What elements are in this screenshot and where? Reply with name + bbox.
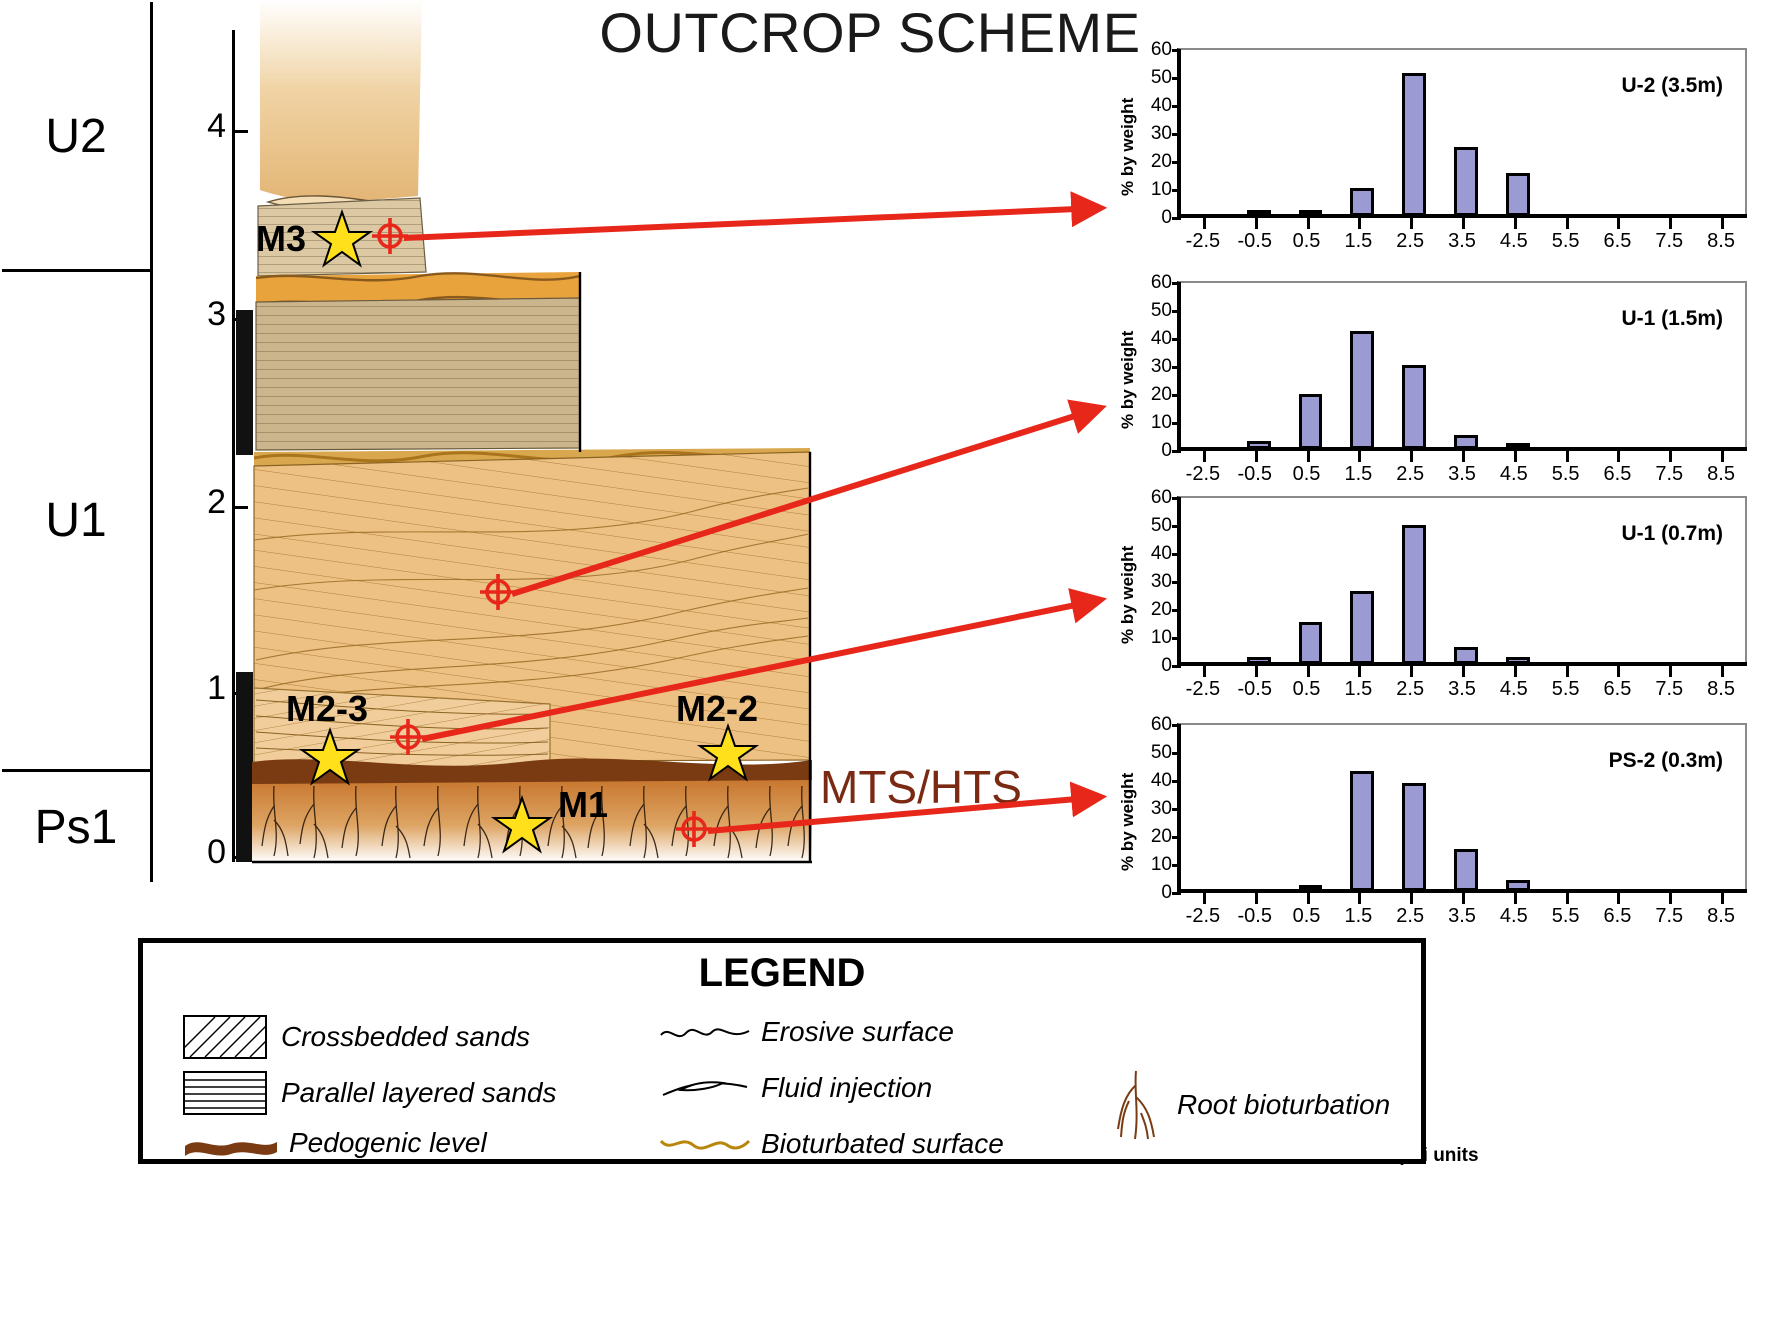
x-tick-mark xyxy=(1721,666,1724,677)
legend-title: LEGEND xyxy=(143,951,1421,996)
y-tick-mark xyxy=(1172,49,1181,52)
x-tick-label: -0.5 xyxy=(1237,678,1271,701)
x-tick-label: 8.5 xyxy=(1707,905,1735,928)
plot-area: 0102030405060PS-2 (0.3m) xyxy=(1177,723,1747,891)
histogram-panel-1: % by weight0102030405060U-2 (3.5m)-2.5-0… xyxy=(1115,40,1763,255)
x-tick-mark xyxy=(1255,451,1258,462)
x-tick-label: 3.5 xyxy=(1448,905,1476,928)
legend-item-crossbedded-sands: Crossbedded sands xyxy=(183,1015,530,1059)
x-tick-mark xyxy=(1669,666,1672,677)
x-tick-label: 4.5 xyxy=(1500,463,1528,486)
x-tick-mark xyxy=(1358,893,1361,904)
x-tick-mark xyxy=(1307,666,1310,677)
wavy-line-icon xyxy=(659,1015,751,1049)
hatched-box-icon xyxy=(183,1015,267,1059)
root-icon xyxy=(1103,1067,1169,1143)
x-tick-mark xyxy=(1255,218,1258,229)
x-tick-mark xyxy=(1566,451,1569,462)
x-tick-mark xyxy=(1462,451,1465,462)
sample-label-m2-3: M2-3 xyxy=(286,688,368,730)
histogram-bar xyxy=(1350,591,1374,664)
x-tick-label: -2.5 xyxy=(1186,678,1220,701)
y-tick-mark xyxy=(1172,282,1181,285)
y-tick-mark xyxy=(1172,752,1181,755)
x-tick-label: 8.5 xyxy=(1707,230,1735,253)
y-tick-mark xyxy=(1172,105,1181,108)
x-tick-label: 8.5 xyxy=(1707,678,1735,701)
x-tick-mark xyxy=(1358,451,1361,462)
x-tick-mark xyxy=(1669,893,1672,904)
y-tick-mark xyxy=(1172,724,1181,727)
histogram-bar xyxy=(1350,188,1374,216)
x-tick-label: 6.5 xyxy=(1604,905,1632,928)
depth-scale-axis xyxy=(232,30,235,862)
x-tick-label: -0.5 xyxy=(1237,905,1271,928)
scale-tick-label: 0 xyxy=(186,833,226,872)
x-tick-mark xyxy=(1410,666,1413,677)
scale-tick-label: 2 xyxy=(186,483,226,522)
x-tick-label: 5.5 xyxy=(1552,463,1580,486)
x-tick-label: -2.5 xyxy=(1186,230,1220,253)
scale-tick-label: 1 xyxy=(186,669,226,708)
x-tick-mark xyxy=(1203,666,1206,677)
x-tick-mark xyxy=(1307,893,1310,904)
x-tick-mark xyxy=(1255,893,1258,904)
chart-title: U-1 (0.7m) xyxy=(1621,522,1723,546)
x-tick-label: 1.5 xyxy=(1344,463,1372,486)
x-tick-label: 0.5 xyxy=(1293,230,1321,253)
sample-label-m1: M1 xyxy=(558,784,608,826)
histogram-bar xyxy=(1350,771,1374,891)
legend-label: Bioturbated surface xyxy=(761,1128,1004,1160)
x-tick-label: 2.5 xyxy=(1396,905,1424,928)
legend-label: Parallel layered sands xyxy=(281,1077,557,1109)
histogram-bar xyxy=(1454,147,1478,216)
x-tick-label: 3.5 xyxy=(1448,463,1476,486)
x-tick-mark xyxy=(1514,666,1517,677)
x-tick-label: 2.5 xyxy=(1396,678,1424,701)
lined-box-icon xyxy=(183,1071,267,1115)
chart-title: U-1 (1.5m) xyxy=(1621,307,1723,331)
x-tick-mark xyxy=(1255,666,1258,677)
unit-cell-u2: U2 xyxy=(2,4,150,272)
x-tick-mark xyxy=(1617,893,1620,904)
x-tick-mark xyxy=(1617,451,1620,462)
y-tick-mark xyxy=(1172,133,1181,136)
x-tick-mark xyxy=(1514,893,1517,904)
x-tick-mark xyxy=(1514,451,1517,462)
histogram-bar xyxy=(1350,331,1374,449)
x-tick-mark xyxy=(1307,451,1310,462)
x-tick-mark xyxy=(1566,218,1569,229)
y-tick-mark xyxy=(1172,189,1181,192)
x-tick-label: 8.5 xyxy=(1707,463,1735,486)
x-tick-label: 2.5 xyxy=(1396,230,1424,253)
plot-area: 0102030405060U-1 (1.5m) xyxy=(1177,281,1747,449)
y-tick-mark xyxy=(1172,836,1181,839)
legend-label: Fluid injection xyxy=(761,1072,932,1104)
histogram-bar xyxy=(1402,525,1426,664)
x-tick-label: 5.5 xyxy=(1552,230,1580,253)
sample-label-m3: M3 xyxy=(256,218,306,260)
y-tick-mark xyxy=(1172,864,1181,867)
y-tick-mark xyxy=(1172,525,1181,528)
x-tick-mark xyxy=(1203,893,1206,904)
outcrop-cross-section xyxy=(250,0,820,880)
legend-item-fluid-injection: Fluid injection xyxy=(659,1071,932,1105)
x-tick-label: 3.5 xyxy=(1448,230,1476,253)
legend-item-root-bioturbation: Root bioturbation xyxy=(1103,1067,1390,1143)
x-tick-label: 1.5 xyxy=(1344,230,1372,253)
x-tick-label: 0.5 xyxy=(1293,678,1321,701)
x-tick-mark xyxy=(1721,893,1724,904)
x-tick-label: 6.5 xyxy=(1604,230,1632,253)
x-tick-label: 5.5 xyxy=(1552,905,1580,928)
x-tick-mark xyxy=(1358,666,1361,677)
y-tick-mark xyxy=(1172,637,1181,640)
x-tick-mark xyxy=(1462,666,1465,677)
x-tick-mark xyxy=(1669,218,1672,229)
histogram-bar xyxy=(1402,73,1426,216)
x-tick-mark xyxy=(1410,893,1413,904)
x-tick-mark xyxy=(1203,218,1206,229)
x-tick-label: 5.5 xyxy=(1552,678,1580,701)
x-tick-label: 7.5 xyxy=(1655,230,1683,253)
x-tick-label: 7.5 xyxy=(1655,905,1683,928)
plot-area: 0102030405060U-2 (3.5m) xyxy=(1177,48,1747,216)
y-tick-mark xyxy=(1172,394,1181,397)
x-tick-label: 0.5 xyxy=(1293,463,1321,486)
legend-label: Crossbedded sands xyxy=(281,1021,530,1053)
legend-item-erosive-surface: Erosive surface xyxy=(659,1015,954,1049)
sample-label-m2-2: M2-2 xyxy=(676,688,758,730)
y-tick-mark xyxy=(1172,808,1181,811)
histogram-bar xyxy=(1506,173,1530,216)
x-tick-label: 2.5 xyxy=(1396,463,1424,486)
y-tick-mark xyxy=(1172,77,1181,80)
histogram-panel-3: % by weight0102030405060U-1 (0.7m)-2.5-0… xyxy=(1115,488,1763,703)
histogram-bar xyxy=(1299,622,1323,664)
x-tick-mark xyxy=(1410,218,1413,229)
brown-wavy-band-icon xyxy=(183,1130,279,1156)
y-tick-mark xyxy=(1172,422,1181,425)
y-tick-mark xyxy=(1172,497,1181,500)
x-tick-mark xyxy=(1566,893,1569,904)
y-tick-mark xyxy=(1172,553,1181,556)
x-tick-mark xyxy=(1514,218,1517,229)
x-tick-label: 1.5 xyxy=(1344,678,1372,701)
mts-hts-label: MTS/HTS xyxy=(820,760,1022,814)
x-tick-mark xyxy=(1462,218,1465,229)
y-tick-mark xyxy=(1172,366,1181,369)
legend-item-parallel-layered-sands: Parallel layered sands xyxy=(183,1071,557,1115)
plot-area: 0102030405060U-1 (0.7m) xyxy=(1177,496,1747,664)
histogram-bar xyxy=(1299,394,1323,449)
x-tick-mark xyxy=(1566,666,1569,677)
legend-label: Erosive surface xyxy=(761,1016,954,1048)
unit-cell-u1: U1 xyxy=(2,272,150,772)
x-tick-label: 4.5 xyxy=(1500,230,1528,253)
x-tick-label: -2.5 xyxy=(1186,463,1220,486)
x-tick-mark xyxy=(1617,218,1620,229)
x-tick-label: 6.5 xyxy=(1604,678,1632,701)
y-tick-mark xyxy=(1172,338,1181,341)
stratigraphic-unit-column: U2 U1 Ps1 xyxy=(2,2,153,882)
legend-box: LEGEND Crossbedded sands Parallel layere… xyxy=(138,938,1426,1164)
x-tick-mark xyxy=(1617,666,1620,677)
histogram-bar xyxy=(1454,849,1478,891)
scale-tick-label: 3 xyxy=(186,295,226,334)
y-tick-mark xyxy=(1172,780,1181,783)
x-tick-mark xyxy=(1721,451,1724,462)
chart-title: PS-2 (0.3m) xyxy=(1609,749,1723,773)
y-tick-mark xyxy=(1172,161,1181,164)
x-tick-mark xyxy=(1307,218,1310,229)
legend-label: Root bioturbation xyxy=(1177,1089,1390,1121)
x-tick-label: 0.5 xyxy=(1293,905,1321,928)
histogram-panel-2: % by weight0102030405060U-1 (1.5m)-2.5-0… xyxy=(1115,273,1763,488)
histogram-bar xyxy=(1402,783,1426,891)
x-tick-label: 3.5 xyxy=(1448,678,1476,701)
legend-label: Pedogenic level xyxy=(289,1127,487,1159)
x-tick-mark xyxy=(1358,218,1361,229)
y-tick-mark xyxy=(1172,609,1181,612)
unit-cell-ps1: Ps1 xyxy=(2,772,150,882)
scale-tick-mark xyxy=(232,130,248,133)
x-tick-label: 4.5 xyxy=(1500,678,1528,701)
y-tick-mark xyxy=(1172,581,1181,584)
scale-tick-label: 4 xyxy=(186,107,226,146)
histogram-panel-4: % by weight0102030405060PS-2 (0.3m)-2.5-… xyxy=(1115,715,1763,930)
x-tick-label: -2.5 xyxy=(1186,905,1220,928)
y-tick-mark xyxy=(1172,310,1181,313)
chart-title: U-2 (3.5m) xyxy=(1621,74,1723,98)
ochre-wavy-line-icon xyxy=(659,1127,751,1161)
lens-line-icon xyxy=(659,1071,751,1105)
x-tick-label: 7.5 xyxy=(1655,463,1683,486)
x-tick-mark xyxy=(1462,893,1465,904)
histogram-bar xyxy=(1402,365,1426,449)
x-tick-mark xyxy=(1410,451,1413,462)
x-tick-label: -0.5 xyxy=(1237,463,1271,486)
legend-item-pedogenic-level: Pedogenic level xyxy=(183,1127,487,1159)
x-tick-label: -0.5 xyxy=(1237,230,1271,253)
x-tick-mark xyxy=(1721,218,1724,229)
x-tick-label: 6.5 xyxy=(1604,463,1632,486)
scale-tick-mark xyxy=(232,506,248,509)
x-tick-label: 1.5 xyxy=(1344,905,1372,928)
x-tick-mark xyxy=(1203,451,1206,462)
legend-item-bioturbated-surface: Bioturbated surface xyxy=(659,1127,1004,1161)
x-tick-label: 4.5 xyxy=(1500,905,1528,928)
x-tick-label: 7.5 xyxy=(1655,678,1683,701)
x-tick-mark xyxy=(1669,451,1672,462)
